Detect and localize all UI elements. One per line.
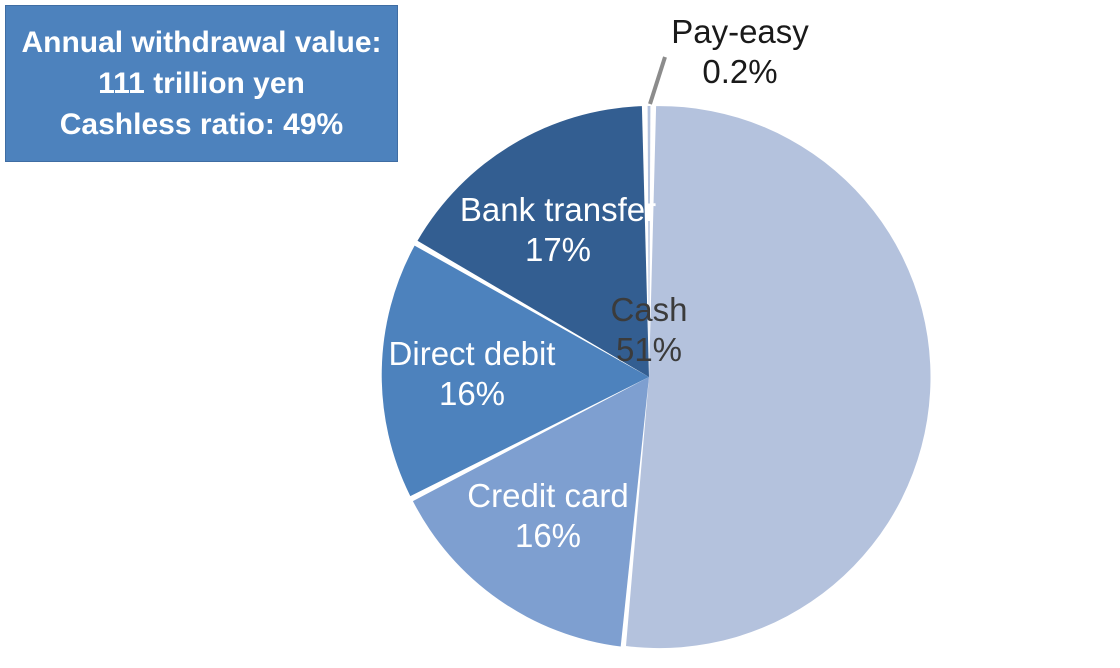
pay-easy-leader-line: [650, 57, 665, 104]
annotation-callout-box: Annual withdrawal value: 111 trillion ye…: [5, 5, 398, 162]
pie-slices: [382, 106, 931, 648]
annotation-line-1: Annual withdrawal value:: [21, 22, 381, 63]
pie-slice-pay-easy[interactable]: [648, 106, 651, 377]
annotation-line-3: Cashless ratio: 49%: [60, 104, 343, 145]
pie-slice-cash[interactable]: [626, 106, 931, 648]
annotation-line-2: 111 trillion yen: [98, 63, 305, 104]
pie-chart-figure: Annual withdrawal value: 111 trillion ye…: [0, 0, 1120, 668]
